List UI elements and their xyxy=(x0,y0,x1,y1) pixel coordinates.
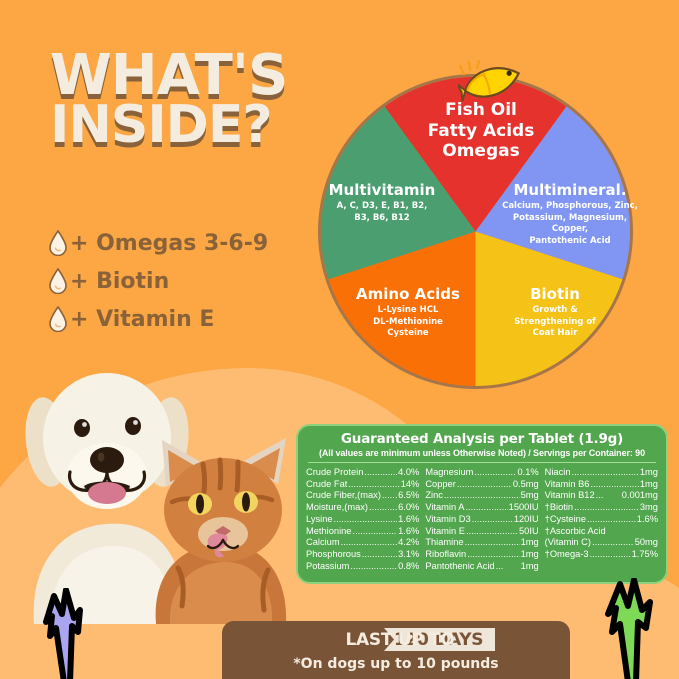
dog-and-cat-photo xyxy=(6,352,306,624)
table-row: Magnesium...............................… xyxy=(425,467,538,479)
table-row: †Ascorbic Acid xyxy=(545,526,658,538)
duration-banner: LAST UP TO 120 DAYS *On dogs up to 10 po… xyxy=(222,621,570,679)
table-row: Vitamin A...............................… xyxy=(425,502,538,514)
infographic-canvas: WHAT'S INSIDE? + Omegas 3-6-9 + Biotin +… xyxy=(0,0,679,679)
pie-disc xyxy=(318,74,633,389)
leaf-shape-green xyxy=(600,578,662,679)
divider xyxy=(308,462,656,463)
analysis-title: Guaranteed Analysis per Tablet (1.9g) xyxy=(306,431,658,447)
table-row: Thiamine................................… xyxy=(425,537,538,549)
ingredients-pie-chart: Fish Oil Fatty Acids Omegas Multivitamin… xyxy=(318,74,633,389)
drop-icon xyxy=(48,230,68,256)
list-item: + Biotin xyxy=(48,262,268,300)
table-row: Moisture,(max)..........................… xyxy=(306,502,419,514)
table-row: Methionine..............................… xyxy=(306,526,419,538)
list-item: + Vitamin E xyxy=(48,300,268,338)
nutrition-column-3: Niacin.................................1… xyxy=(545,467,658,572)
nutrition-column-2: Magnesium...............................… xyxy=(425,467,538,572)
page-title: WHAT'S INSIDE? xyxy=(50,50,350,149)
list-item: + Omegas 3-6-9 xyxy=(48,224,268,262)
table-row: †Cysteine...............................… xyxy=(545,514,658,526)
nutrition-column-1: Crude Protein...........................… xyxy=(306,467,419,572)
bullet-label-biotin: + Biotin xyxy=(70,269,169,294)
table-row: Potassium...............................… xyxy=(306,561,419,573)
fish-icon xyxy=(458,60,526,104)
table-row: Crude Protein...........................… xyxy=(306,467,419,479)
table-row: Riboflavin..............................… xyxy=(425,549,538,561)
table-row: †Biotin.................................… xyxy=(545,502,658,514)
table-row: Pantothenic Acid...1mg xyxy=(425,561,538,573)
table-row: Vitamin D3..............................… xyxy=(425,514,538,526)
table-row: Crude Fat...............................… xyxy=(306,479,419,491)
guaranteed-analysis-panel: Guaranteed Analysis per Tablet (1.9g) (A… xyxy=(296,424,668,584)
table-row: Vitamin E...............................… xyxy=(425,526,538,538)
analysis-subtitle: (All values are minimum unless Otherwise… xyxy=(306,448,658,458)
banner-headline: LAST UP TO 120 DAYS xyxy=(222,628,570,651)
banner-left-text: LAST UP TO xyxy=(338,630,455,650)
table-row: Phosphorous.............................… xyxy=(306,549,419,561)
table-row: Vitamin B6..............................… xyxy=(545,479,658,491)
table-row: Zinc.................................5mg xyxy=(425,490,538,502)
table-row: Crude Fiber,(max).......................… xyxy=(306,490,419,502)
table-row: Copper.................................0… xyxy=(425,479,538,491)
table-row: Niacin.................................1… xyxy=(545,467,658,479)
title-line-2: INSIDE? xyxy=(50,102,350,150)
banner-footnote: *On dogs up to 10 pounds xyxy=(222,656,570,672)
bullet-label-vitamin-e: + Vitamin E xyxy=(70,307,214,332)
table-row: Calcium.................................… xyxy=(306,537,419,549)
bullet-label-omegas: + Omegas 3-6-9 xyxy=(70,231,268,256)
nutrition-columns: Crude Protein...........................… xyxy=(306,467,658,572)
title-line-1: WHAT'S xyxy=(50,50,350,102)
table-row: Lysine.................................1… xyxy=(306,514,419,526)
table-row: †Omega-3................................… xyxy=(545,549,658,561)
table-row: Vitamin B12...0.001mg xyxy=(545,490,658,502)
drop-icon xyxy=(48,268,68,294)
leaf-shape-purple xyxy=(36,588,96,679)
feature-bullet-list: + Omegas 3-6-9 + Biotin + Vitamin E xyxy=(48,224,268,338)
table-row: (Vitamin C).............................… xyxy=(545,537,658,549)
drop-icon xyxy=(48,306,68,332)
